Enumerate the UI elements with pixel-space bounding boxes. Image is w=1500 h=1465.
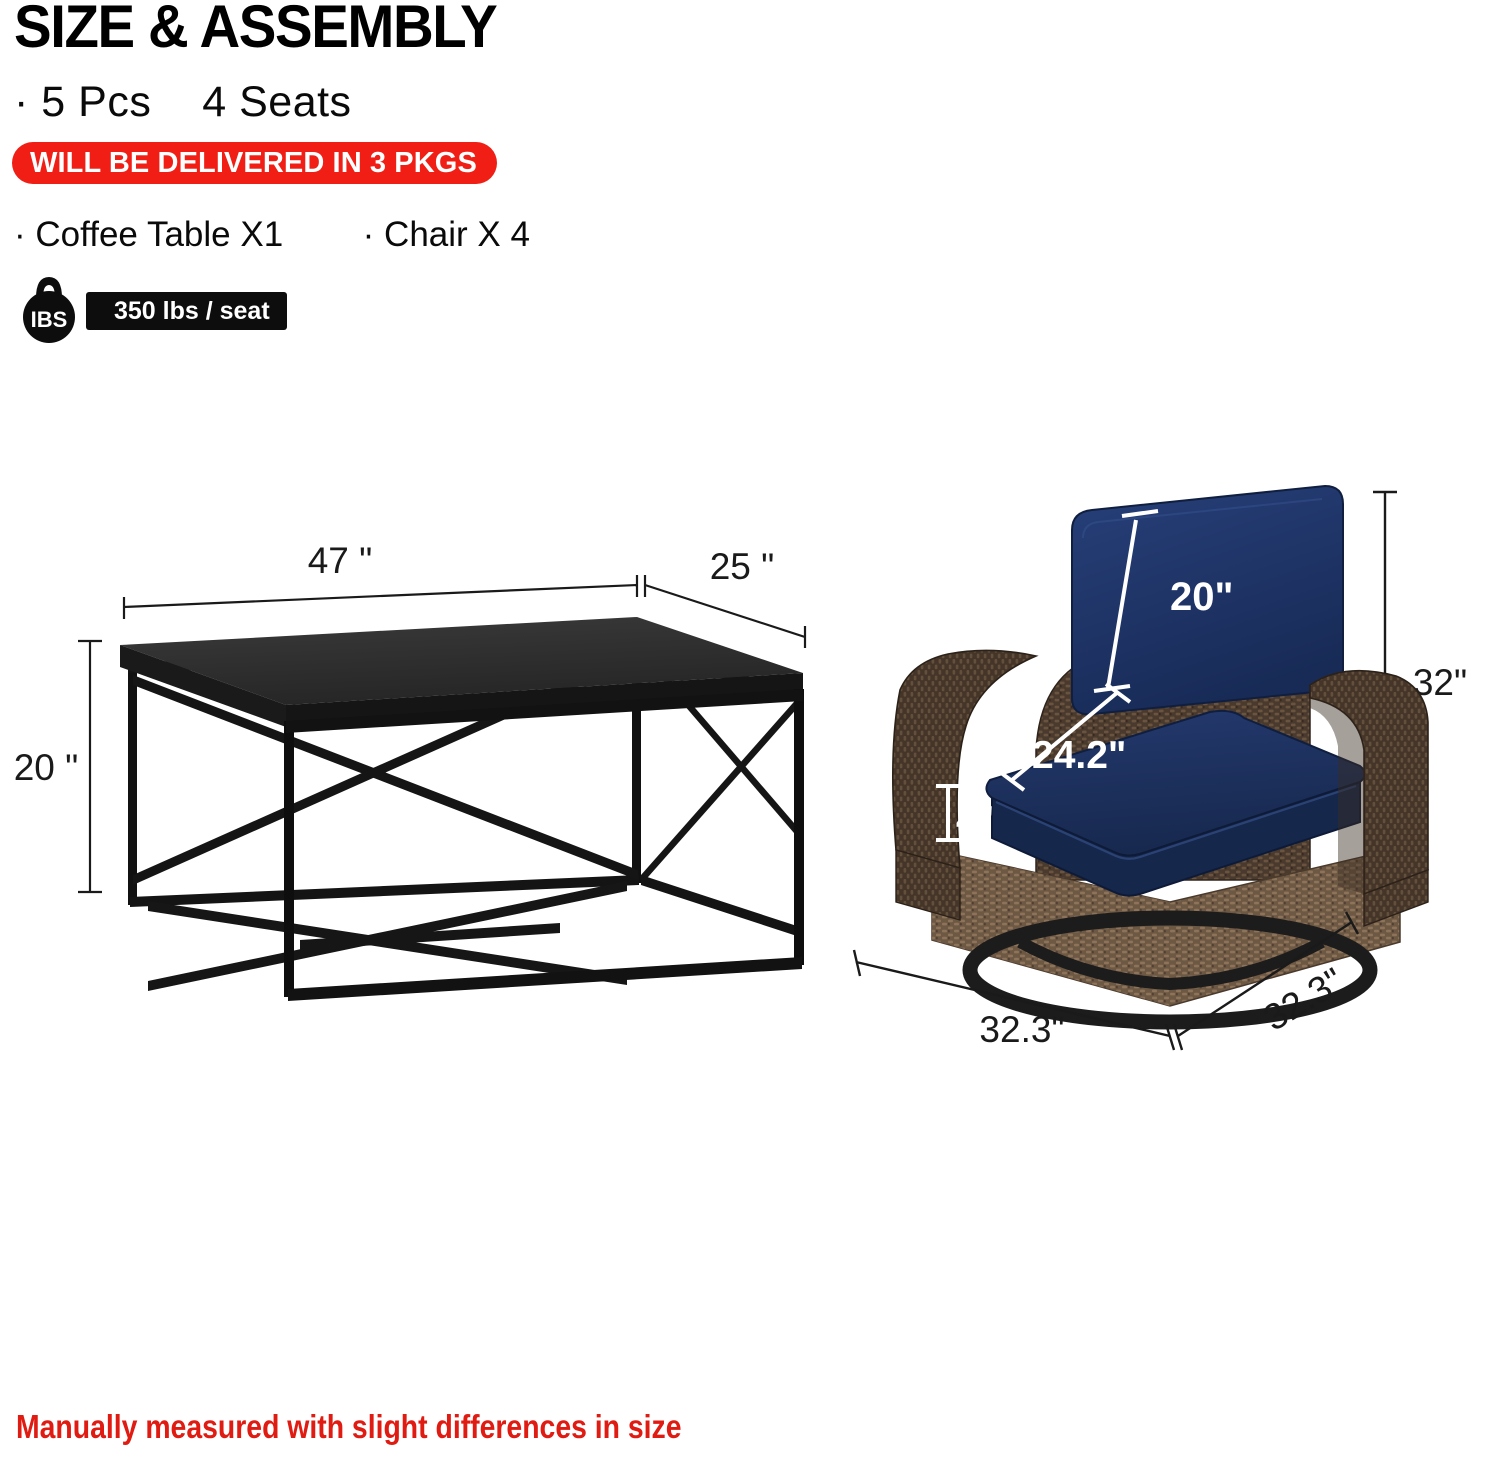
part-1-label: Coffee Table X1 — [35, 215, 283, 254]
part-1-bullet: · — [14, 215, 26, 254]
pieces-count: 5 Pcs — [41, 78, 151, 126]
delivery-badge: WILL BE DELIVERED IN 3 PKGS — [12, 142, 497, 184]
weight-icon-label: IBS — [31, 307, 68, 332]
chair-body — [893, 486, 1428, 1022]
table-height-dimension: 20 " — [14, 641, 102, 892]
chair-back-cushion-label: 20" — [1170, 575, 1233, 619]
pieces-seats-line: · 5 Pcs 4 Seats — [14, 78, 352, 127]
table-height-label: 20 " — [14, 747, 79, 788]
table-depth-label: 25 " — [710, 546, 775, 587]
page-title: SIZE & ASSEMBLY — [14, 0, 496, 61]
table-width-dimension: 47 " — [124, 545, 637, 619]
part-2-label: Chair X 4 — [384, 215, 530, 254]
chair-seat-depth-label: 24.2" — [1032, 734, 1126, 777]
weight-capacity-label: 350 lbs / seat — [114, 297, 270, 326]
swivel-chair-diagram: 32" 2 — [840, 450, 1500, 1070]
parts-list-line: · Coffee Table X1 · Chair X 4 — [14, 215, 530, 255]
part-2-bullet: · — [363, 215, 375, 254]
chair-width-label: 32.3" — [979, 1009, 1064, 1050]
kettlebell-weight-icon: IBS — [14, 272, 84, 344]
seats-count: 4 Seats — [202, 78, 351, 126]
weight-capacity-pill: 350 lbs / seat — [86, 292, 287, 330]
pieces-bullet: · — [14, 78, 29, 126]
measurement-disclaimer: Manually measured with slight difference… — [16, 1408, 682, 1446]
coffee-table-diagram: 47 " 25 " 20 " — [0, 545, 850, 1005]
table-width-label: 47 " — [308, 545, 373, 581]
delivery-badge-label: WILL BE DELIVERED IN 3 PKGS — [30, 147, 477, 180]
table-front-legs — [284, 689, 804, 1001]
chair-cushion-thickness-label: 4" — [956, 799, 994, 840]
